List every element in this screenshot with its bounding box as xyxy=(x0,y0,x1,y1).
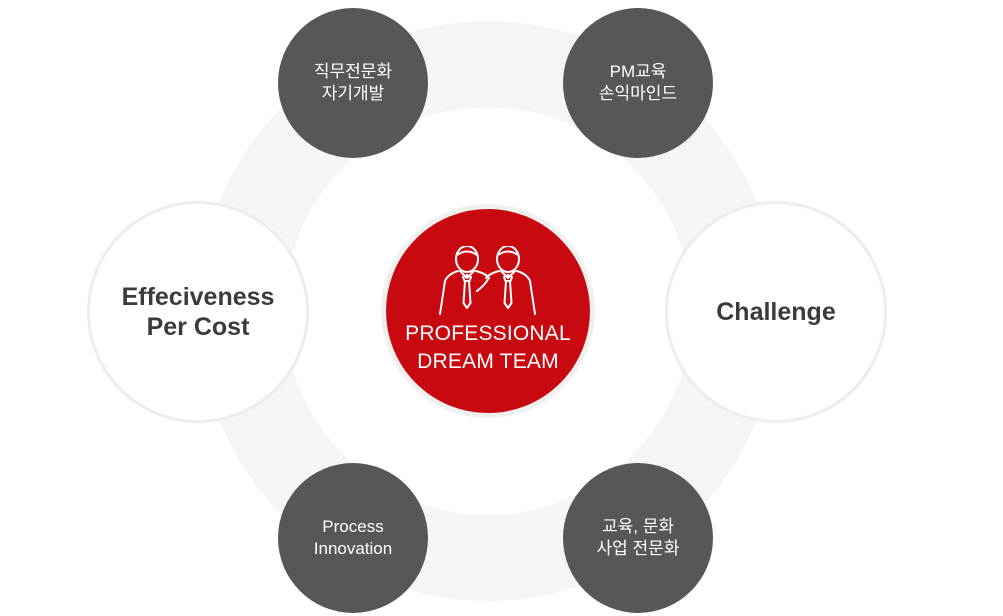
node-left[interactable]: Effeciveness Per Cost xyxy=(87,201,309,423)
node-bottom-right-line2: 사업 전문화 xyxy=(597,538,680,560)
node-bottom-right-line1: 교육, 문화 xyxy=(602,516,674,538)
center-node[interactable]: PROFESSIONAL DREAM TEAM xyxy=(381,204,595,418)
node-bottom-right[interactable]: 교육, 문화 사업 전문화 xyxy=(563,463,713,613)
node-top-right-line2: 손익마인드 xyxy=(599,83,677,105)
node-right[interactable]: Challenge xyxy=(665,201,887,423)
node-top-left[interactable]: 직무전문화 자기개발 xyxy=(278,8,428,158)
node-left-line1: Effeciveness xyxy=(122,282,275,313)
node-bottom-left[interactable]: Process Innovation xyxy=(278,463,428,613)
node-top-right-line1: PM교육 xyxy=(610,61,667,83)
two-business-people-icon xyxy=(436,246,540,318)
center-title-line1: PROFESSIONAL xyxy=(405,320,571,348)
center-title: PROFESSIONAL DREAM TEAM xyxy=(405,320,571,375)
node-bottom-left-line1: Process xyxy=(322,516,383,538)
node-top-left-line1: 직무전문화 xyxy=(314,61,392,83)
node-left-line2: Per Cost xyxy=(147,312,250,343)
node-top-left-line2: 자기개발 xyxy=(322,83,385,105)
diagram-canvas: 직무전문화 자기개발 PM교육 손익마인드 Challenge 교육, 문화 사… xyxy=(0,0,1003,616)
node-bottom-left-line2: Innovation xyxy=(314,538,392,560)
node-right-line1: Challenge xyxy=(716,297,835,328)
center-title-line2: DREAM TEAM xyxy=(405,348,571,376)
node-top-right[interactable]: PM교육 손익마인드 xyxy=(563,8,713,158)
